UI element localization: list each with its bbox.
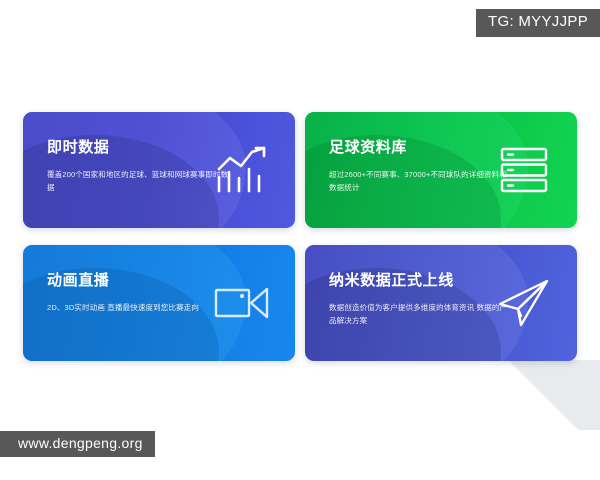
card-title: 纳米数据正式上线 — [329, 273, 511, 290]
background-corner-decoration — [480, 360, 600, 430]
card-description: 数据创造价值为客户提供多维度的体育资讯 数据的产品解决方案 — [329, 301, 511, 327]
feature-card-live-data[interactable]: 即时数据 覆盖200个国家和地区的足球、篮球和网球赛事即时数据 — [23, 112, 295, 228]
paper-plane-icon — [493, 275, 555, 331]
card-description: 覆盖200个国家和地区的足球、篮球和网球赛事即时数据 — [47, 168, 229, 194]
feature-card-grid: 即时数据 覆盖200个国家和地区的足球、篮球和网球赛事即时数据 足球资料库 — [23, 112, 577, 361]
feature-card-nano-data-launch[interactable]: 纳米数据正式上线 数据创造价值为客户提供多维度的体育资讯 数据的产品解决方案 — [305, 245, 577, 361]
video-camera-icon — [211, 275, 273, 331]
card-text-block: 即时数据 覆盖200个国家和地区的足球、篮球和网球赛事即时数据 — [23, 112, 229, 194]
card-description: 超过2600+不同赛事、37000+不同球队的详细资料和数据统计 — [329, 168, 511, 194]
card-description: 2D、3D实时动画 直播最快速度到您比赛走向 — [47, 301, 229, 314]
card-text-block: 动画直播 2D、3D实时动画 直播最快速度到您比赛走向 — [23, 245, 229, 314]
card-title: 动画直播 — [47, 273, 229, 290]
feature-card-football-database[interactable]: 足球资料库 超过2600+不同赛事、37000+不同球队的详细资料和数据统计 — [305, 112, 577, 228]
card-text-block: 纳米数据正式上线 数据创造价值为客户提供多维度的体育资讯 数据的产品解决方案 — [305, 245, 511, 327]
feature-card-animated-live[interactable]: 动画直播 2D、3D实时动画 直播最快速度到您比赛走向 — [23, 245, 295, 361]
bar-chart-trend-icon — [211, 142, 273, 198]
watermark-telegram: TG: MYYJJPP — [476, 9, 600, 37]
server-rack-icon — [493, 142, 555, 198]
card-title: 即时数据 — [47, 140, 229, 157]
card-title: 足球资料库 — [329, 140, 511, 157]
card-text-block: 足球资料库 超过2600+不同赛事、37000+不同球队的详细资料和数据统计 — [305, 112, 511, 194]
watermark-website-url: www.dengpeng.org — [0, 431, 155, 457]
